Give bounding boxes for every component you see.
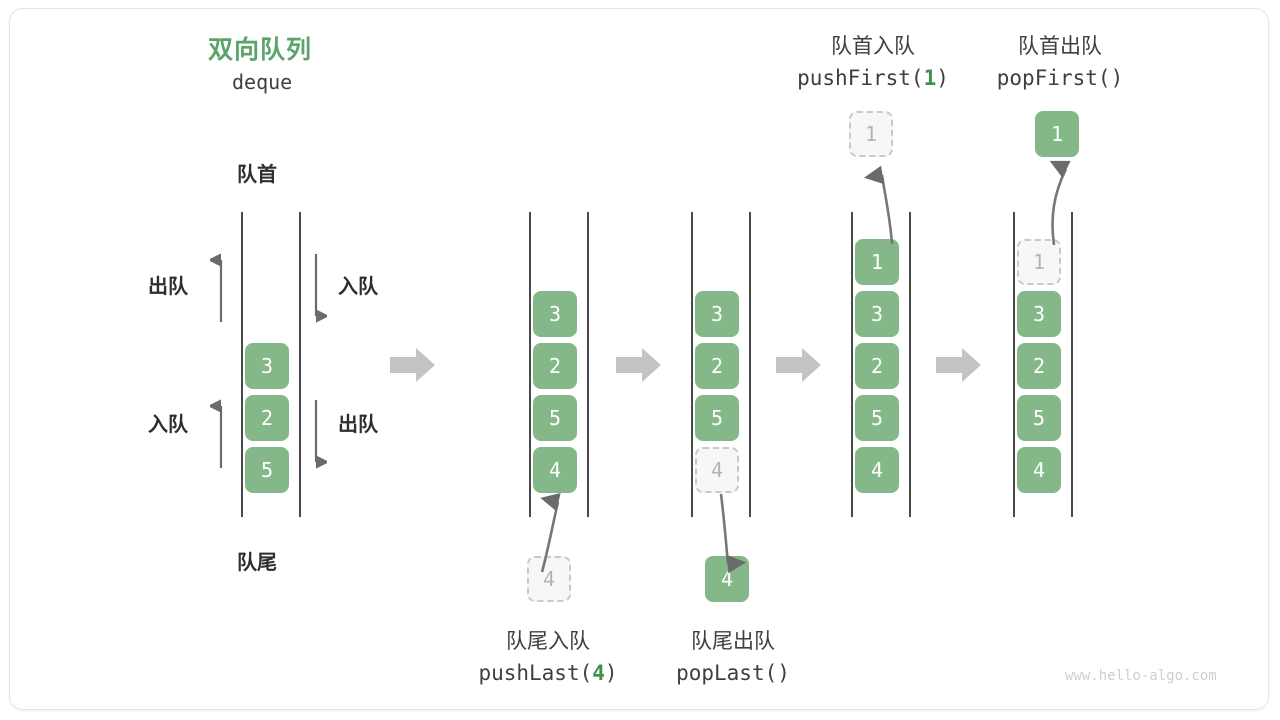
stage-3-cell-2: 2 — [855, 343, 899, 389]
stage-2-cell-2: 5 — [695, 395, 739, 441]
push-last-connector-arrow-icon — [520, 492, 600, 576]
stage-4-cell-2: 2 — [1017, 343, 1061, 389]
op-code-push-last-suffix: ) — [605, 661, 618, 685]
stage-transition-arrow-icon-1 — [390, 345, 436, 385]
op-code-push-first-arg: 1 — [924, 66, 937, 90]
float-push-first-box: 1 — [849, 111, 893, 157]
stage-1-rail-left — [529, 212, 531, 517]
stage-2-cell-1: 2 — [695, 343, 739, 389]
stage-4-cell-1: 3 — [1017, 291, 1061, 337]
op-code-pop-first-prefix: popFirst( — [997, 66, 1111, 90]
stage-1-cell-2: 5 — [533, 395, 577, 441]
stage-3-rail-right — [909, 212, 911, 517]
op-code-push-first-prefix: pushFirst( — [797, 66, 923, 90]
watermark: www.hello-algo.com — [1065, 668, 1217, 684]
figure-title-cn: 双向队列 — [208, 30, 312, 66]
stage-0-rail-left — [241, 212, 243, 517]
stage-2-cell-0: 3 — [695, 291, 739, 337]
stage-3-cell-4: 4 — [855, 447, 899, 493]
stage-3-rail-left — [851, 212, 853, 517]
float-pop-first-box: 1 — [1035, 111, 1079, 157]
stage-transition-arrow-icon-2 — [616, 345, 662, 385]
stage-3-cell-3: 5 — [855, 395, 899, 441]
stage-transition-arrow-icon-4 — [936, 345, 982, 385]
op-label-pop-first: 队首出队 — [995, 30, 1125, 60]
push-first-connector-arrow-icon — [830, 155, 910, 247]
stage-4-cell-4: 4 — [1017, 447, 1061, 493]
op-code-push-last-arg: 4 — [592, 661, 605, 685]
stage-4-rail-right — [1071, 212, 1073, 517]
op-code-push-last-prefix: pushLast( — [478, 661, 592, 685]
stage-0-cell-2: 5 — [245, 447, 289, 493]
front-pop-arrow-icon — [210, 252, 232, 324]
op-code-pop-first: popFirst() — [975, 66, 1145, 90]
op-code-push-first-suffix: ) — [936, 66, 949, 90]
stage-1-rail-right — [587, 212, 589, 517]
op-code-pop-last-suffix: ) — [777, 661, 790, 685]
op-label-pop-last: 队尾出队 — [668, 625, 798, 655]
back-push-label: 入队 — [148, 408, 188, 437]
back-pop-arrow-icon — [305, 398, 327, 470]
stage-1-cell-3: 4 — [533, 447, 577, 493]
front-push-arrow-icon — [305, 252, 327, 324]
back-pop-label: 出队 — [338, 408, 378, 437]
stage-0-cell-1: 2 — [245, 395, 289, 441]
stage-4-rail-left — [1013, 212, 1015, 517]
op-code-push-first: pushFirst(1) — [778, 66, 968, 90]
stage-2-cell-3: 4 — [695, 447, 739, 493]
stage-2-rail-left — [691, 212, 693, 517]
stage-3-cell-1: 3 — [855, 291, 899, 337]
op-label-push-last: 队尾入队 — [483, 625, 613, 655]
stage-1-cell-1: 2 — [533, 343, 577, 389]
op-code-pop-first-suffix: ) — [1111, 66, 1124, 90]
pop-last-connector-arrow-icon — [700, 492, 780, 576]
op-code-push-last: pushLast(4) — [455, 661, 641, 685]
stage-4-cell-3: 5 — [1017, 395, 1061, 441]
pop-first-connector-arrow-icon — [1028, 155, 1108, 249]
figure-canvas: 双向队列 deque 队首入队 pushFirst(1) 队首出队 popFir… — [0, 0, 1280, 720]
front-end-label: 队首 — [237, 158, 277, 187]
stage-transition-arrow-icon-3 — [776, 345, 822, 385]
front-pop-label: 出队 — [148, 270, 188, 299]
stage-2-rail-right — [749, 212, 751, 517]
back-push-arrow-icon — [210, 398, 232, 470]
op-code-pop-last-prefix: popLast( — [676, 661, 777, 685]
stage-1-cell-0: 3 — [533, 291, 577, 337]
stage-0-cell-0: 3 — [245, 343, 289, 389]
stage-0-rail-right — [299, 212, 301, 517]
figure-title-en: deque — [232, 70, 292, 94]
op-label-push-first: 队首入队 — [808, 30, 938, 60]
op-code-pop-last: popLast() — [648, 661, 818, 685]
front-push-label: 入队 — [338, 270, 378, 299]
back-end-label: 队尾 — [237, 546, 277, 575]
